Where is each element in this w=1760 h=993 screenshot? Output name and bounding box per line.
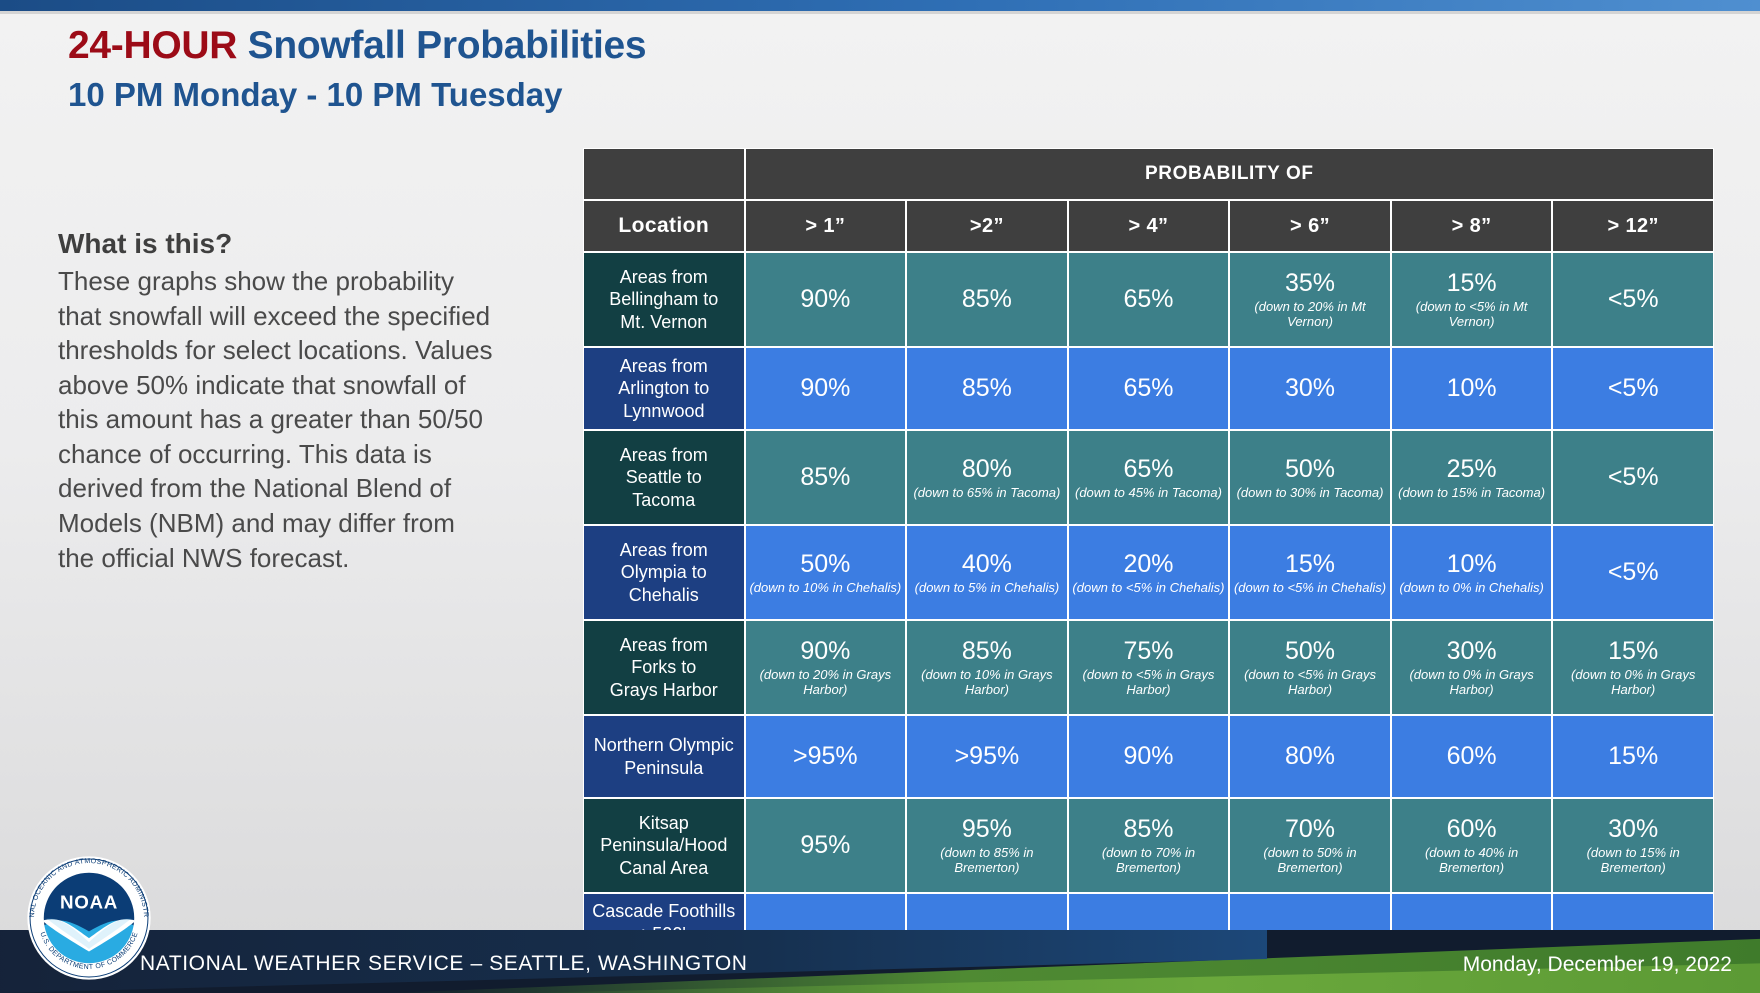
column-header-threshold-2: >2” [906, 200, 1068, 252]
prob-value: 85% [1072, 815, 1226, 844]
top-accent-shadow [0, 11, 1760, 14]
prob-cell: 85% [906, 252, 1068, 347]
prob-cell: 20%(down to <5% in Chehalis) [1068, 525, 1230, 620]
prob-cell: 90% [745, 252, 907, 347]
prob-note: (down to <5% in Grays Harbor) [1072, 667, 1226, 698]
table-row: Northern OlympicPeninsula>95%>95%90%80%6… [583, 715, 1714, 798]
prob-value: 85% [749, 463, 903, 492]
snowfall-probability-table: PROBABILITY OF Location> 1”>2”> 4”> 6”> … [583, 148, 1714, 993]
prob-value: 80% [1233, 742, 1387, 771]
prob-value: <5% [1556, 374, 1710, 403]
prob-value: 75% [1072, 637, 1226, 666]
prob-cell: 75%(down to <5% in Grays Harbor) [1068, 620, 1230, 715]
prob-value: 60% [1395, 815, 1549, 844]
row-location-label: Areas fromArlington toLynnwood [583, 347, 745, 430]
page-title: 24-HOUR Snowfall Probabilities [68, 24, 646, 69]
column-header-threshold-4: > 6” [1229, 200, 1391, 252]
prob-note: (down to 30% in Tacoma) [1233, 485, 1387, 501]
prob-value: 90% [749, 637, 903, 666]
prob-cell: 95% [745, 798, 907, 893]
prob-cell: 85% [745, 430, 907, 525]
title-hours: 24-HOUR [68, 24, 237, 67]
prob-value: 90% [749, 285, 903, 314]
prob-value: 15% [1395, 269, 1549, 298]
prob-cell: 85%(down to 70% in Bremerton) [1068, 798, 1230, 893]
prob-cell: 50%(down to 30% in Tacoma) [1229, 430, 1391, 525]
prob-cell: <5% [1552, 252, 1714, 347]
prob-note: (down to 65% in Tacoma) [910, 485, 1064, 501]
prob-note: (down to 10% in Grays Harbor) [910, 667, 1064, 698]
prob-cell: 90% [745, 347, 907, 430]
prob-value: 15% [1556, 742, 1710, 771]
prob-value: 50% [749, 550, 903, 579]
prob-note: (down to 20% in Mt Vernon) [1233, 299, 1387, 330]
prob-cell: 85% [906, 347, 1068, 430]
prob-cell: 65% [1068, 252, 1230, 347]
prob-cell: 80% [1229, 715, 1391, 798]
prob-note: (down to <5% in Chehalis) [1233, 580, 1387, 596]
prob-cell: 60%(down to 40% in Bremerton) [1391, 798, 1553, 893]
prob-cell: 30%(down to 15% in Bremerton) [1552, 798, 1714, 893]
row-location-label: Northern OlympicPeninsula [583, 715, 745, 798]
prob-value: 95% [910, 815, 1064, 844]
row-location-label: Areas fromOlympia toChehalis [583, 525, 745, 620]
prob-note: (down to <5% in Mt Vernon) [1395, 299, 1549, 330]
prob-value: 35% [1233, 269, 1387, 298]
prob-note: (down to 40% in Bremerton) [1395, 845, 1549, 876]
table-row: Areas fromForks toGrays Harbor90%(down t… [583, 620, 1714, 715]
prob-note: (down to 50% in Bremerton) [1233, 845, 1387, 876]
row-location-label: Areas fromSeattle toTacoma [583, 430, 745, 525]
prob-note: (down to 0% in Grays Harbor) [1556, 667, 1710, 698]
prob-value: 20% [1072, 550, 1226, 579]
prob-note: (down to 20% in Grays Harbor) [749, 667, 903, 698]
prob-cell: 15%(down to 0% in Grays Harbor) [1552, 620, 1714, 715]
prob-note: (down to 0% in Grays Harbor) [1395, 667, 1549, 698]
prob-note: (down to 10% in Chehalis) [749, 580, 903, 596]
row-location-label: Kitsap Peninsula/HoodCanal Area [583, 798, 745, 893]
prob-cell: >95% [745, 715, 907, 798]
table-row: Kitsap Peninsula/HoodCanal Area95%95%(do… [583, 798, 1714, 893]
prob-value: <5% [1556, 558, 1710, 587]
prob-cell: <5% [1552, 347, 1714, 430]
table-head: PROBABILITY OF Location> 1”>2”> 4”> 6”> … [583, 148, 1714, 252]
prob-value: 65% [1072, 455, 1226, 484]
prob-cell: 65% [1068, 347, 1230, 430]
column-header-threshold-3: > 4” [1068, 200, 1230, 252]
prob-value: 80% [910, 455, 1064, 484]
prob-value: 60% [1395, 742, 1549, 771]
column-header-row: Location> 1”>2”> 4”> 6”> 8”> 12” [583, 200, 1714, 252]
prob-value: 30% [1556, 815, 1710, 844]
prob-value: 70% [1233, 815, 1387, 844]
prob-cell: 80%(down to 65% in Tacoma) [906, 430, 1068, 525]
title-block: 24-HOUR Snowfall Probabilities 10 PM Mon… [68, 24, 646, 114]
prob-cell: 35%(down to 20% in Mt Vernon) [1229, 252, 1391, 347]
prob-value: 85% [910, 285, 1064, 314]
prob-cell: 10% [1391, 347, 1553, 430]
column-header-threshold-1: > 1” [745, 200, 907, 252]
prob-cell: 40%(down to 5% in Chehalis) [906, 525, 1068, 620]
top-accent-bar [0, 0, 1760, 11]
noaa-logo-icon: NOAA NATIONAL OCEANIC AND ATMOSPHERIC AD… [22, 851, 156, 985]
prob-cell: 95%(down to 85% in Bremerton) [906, 798, 1068, 893]
explainer-heading: What is this? [58, 228, 498, 260]
row-location-label: Areas fromForks toGrays Harbor [583, 620, 745, 715]
prob-note: (down to 85% in Bremerton) [910, 845, 1064, 876]
noaa-logo-wordmark: NOAA [60, 892, 118, 913]
prob-cell: 85%(down to 10% in Grays Harbor) [906, 620, 1068, 715]
table-row: Areas fromBellingham toMt. Vernon90%85%6… [583, 252, 1714, 347]
table-row: Areas fromArlington toLynnwood90%85%65%3… [583, 347, 1714, 430]
prob-cell: 15%(down to <5% in Chehalis) [1229, 525, 1391, 620]
prob-cell: 50%(down to 10% in Chehalis) [745, 525, 907, 620]
header-spacer-cell [583, 148, 745, 200]
prob-value: 25% [1395, 455, 1549, 484]
prob-value: <5% [1556, 463, 1710, 492]
prob-cell: 15% [1552, 715, 1714, 798]
prob-value: 40% [910, 550, 1064, 579]
column-header-threshold-5: > 8” [1391, 200, 1553, 252]
prob-cell: <5% [1552, 525, 1714, 620]
prob-value: 65% [1072, 285, 1226, 314]
prob-note: (down to 5% in Chehalis) [910, 580, 1064, 596]
column-header-threshold-6: > 12” [1552, 200, 1714, 252]
prob-note: (down to 70% in Bremerton) [1072, 845, 1226, 876]
prob-value: <5% [1556, 285, 1710, 314]
prob-value: 50% [1233, 637, 1387, 666]
prob-note: (down to 15% in Tacoma) [1395, 485, 1549, 501]
prob-cell: 65%(down to 45% in Tacoma) [1068, 430, 1230, 525]
prob-value: 65% [1072, 374, 1226, 403]
prob-note: (down to 0% in Chehalis) [1395, 580, 1549, 596]
prob-value: 15% [1233, 550, 1387, 579]
prob-note: (down to 45% in Tacoma) [1072, 485, 1226, 501]
table-row: Areas fromSeattle toTacoma85%80%(down to… [583, 430, 1714, 525]
prob-value: 30% [1233, 374, 1387, 403]
prob-cell: 60% [1391, 715, 1553, 798]
prob-value: 90% [749, 374, 903, 403]
prob-cell: <5% [1552, 430, 1714, 525]
prob-value: 85% [910, 637, 1064, 666]
prob-cell: 15%(down to <5% in Mt Vernon) [1391, 252, 1553, 347]
prob-value: 30% [1395, 637, 1549, 666]
probability-of-header: PROBABILITY OF [745, 148, 1714, 200]
footer-date-label: Monday, December 19, 2022 [1463, 953, 1732, 977]
prob-cell: 30% [1229, 347, 1391, 430]
title-main: Snowfall Probabilities [237, 24, 646, 67]
prob-cell: 90%(down to 20% in Grays Harbor) [745, 620, 907, 715]
prob-cell: 30%(down to 0% in Grays Harbor) [1391, 620, 1553, 715]
prob-value: 10% [1395, 550, 1549, 579]
prob-note: (down to <5% in Chehalis) [1072, 580, 1226, 596]
prob-value: 95% [749, 831, 903, 860]
explainer-body: These graphs show the probability that s… [58, 264, 498, 575]
prob-value: 85% [910, 374, 1064, 403]
row-location-label: Areas fromBellingham toMt. Vernon [583, 252, 745, 347]
table-row: Areas fromOlympia toChehalis50%(down to … [583, 525, 1714, 620]
table-body: Areas fromBellingham toMt. Vernon90%85%6… [583, 252, 1714, 993]
footer-office-label: NATIONAL WEATHER SERVICE – SEATTLE, WASH… [140, 952, 748, 976]
explainer-panel: What is this? These graphs show the prob… [58, 228, 498, 575]
prob-value: 15% [1556, 637, 1710, 666]
prob-cell: 10%(down to 0% in Chehalis) [1391, 525, 1553, 620]
prob-value: 10% [1395, 374, 1549, 403]
prob-cell: 90% [1068, 715, 1230, 798]
prob-value: 50% [1233, 455, 1387, 484]
page-subtitle: 10 PM Monday - 10 PM Tuesday [68, 75, 646, 115]
column-header-location: Location [583, 200, 745, 252]
prob-note: (down to <5% in Grays Harbor) [1233, 667, 1387, 698]
prob-cell: 25%(down to 15% in Tacoma) [1391, 430, 1553, 525]
prob-value: >95% [749, 742, 903, 771]
prob-cell: 70%(down to 50% in Bremerton) [1229, 798, 1391, 893]
prob-value: >95% [910, 742, 1064, 771]
group-header-row: PROBABILITY OF [583, 148, 1714, 200]
prob-cell: >95% [906, 715, 1068, 798]
prob-value: 90% [1072, 742, 1226, 771]
prob-cell: 50%(down to <5% in Grays Harbor) [1229, 620, 1391, 715]
prob-note: (down to 15% in Bremerton) [1556, 845, 1710, 876]
